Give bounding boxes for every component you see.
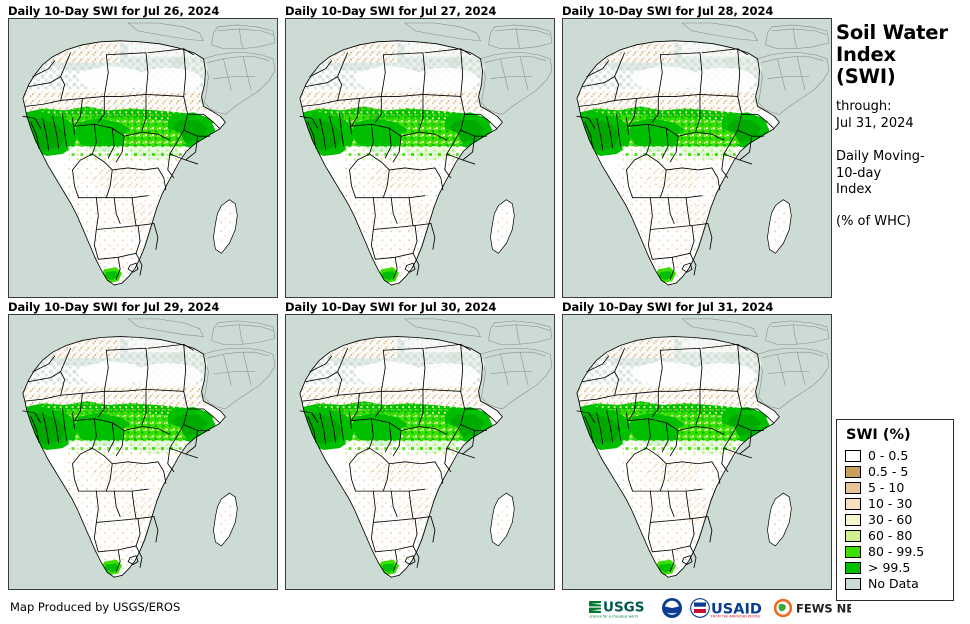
legend-label: 0.5 - 5 [868, 466, 908, 478]
units-label: (% of WHC) [836, 214, 968, 231]
svg-text:FEWS NET: FEWS NET [796, 602, 851, 616]
legend-swatch [845, 578, 861, 590]
legend-label: 5 - 10 [868, 482, 904, 494]
legend-label: 0 - 0.5 [868, 450, 908, 462]
map-canvas[interactable] [562, 314, 832, 590]
legend-item: No Data [845, 576, 945, 592]
legend-swatch [845, 546, 861, 558]
svg-text:FROM THE AMERICAN PEOPLE: FROM THE AMERICAN PEOPLE [711, 615, 760, 619]
map-canvas[interactable] [285, 18, 555, 298]
legend-item: 60 - 80 [845, 528, 945, 544]
noaa-logo [661, 596, 683, 620]
panel-title: Daily 10-Day SWI for Jul 27, 2024 [285, 4, 555, 18]
legend-label: > 99.5 [868, 562, 910, 574]
legend-item: 0.5 - 5 [845, 464, 945, 480]
description-line-3: Index [836, 182, 968, 199]
fews-net-logo: FEWS NET [773, 596, 851, 620]
panel-title: Daily 10-Day SWI for Jul 26, 2024 [8, 4, 278, 18]
usaid-logo: USAID FROM THE AMERICAN PEOPLE [690, 596, 766, 620]
legend-item: 10 - 30 [845, 496, 945, 512]
agency-logos: USGS science for a changing world USAID … [588, 595, 851, 621]
legend-item: 30 - 60 [845, 512, 945, 528]
legend-swatch [845, 450, 861, 462]
legend-label: No Data [868, 578, 919, 590]
legend-label: 60 - 80 [868, 530, 912, 542]
map-canvas[interactable] [562, 18, 832, 298]
svg-text:USGS: USGS [603, 600, 645, 616]
map-panel-1: Daily 10-Day SWI for Jul 26, 2024 [8, 4, 278, 18]
description-line-1: Daily Moving- [836, 149, 968, 166]
map-panel-5: Daily 10-Day SWI for Jul 30, 2024 [285, 300, 555, 314]
legend-swatch [845, 498, 861, 510]
map-credit: Map Produced by USGS/EROS [10, 600, 180, 614]
legend-item: > 99.5 [845, 560, 945, 576]
title-line-3: (SWI) [836, 66, 968, 88]
legend-swatch [845, 514, 861, 526]
map-panel-6: Daily 10-Day SWI for Jul 31, 2024 [562, 300, 832, 314]
legend-title: SWI (%) [846, 427, 945, 443]
title-line-1: Soil Water [836, 22, 968, 44]
legend-swatch [845, 466, 861, 478]
panel-title: Daily 10-Day SWI for Jul 30, 2024 [285, 300, 555, 314]
legend: SWI (%) 0 - 0.5 0.5 - 5 5 - 10 10 - 30 3… [836, 419, 954, 601]
legend-swatch [845, 530, 861, 542]
svg-text:science for a changing world: science for a changing world [589, 615, 638, 619]
through-date: Jul 31, 2024 [836, 116, 968, 133]
legend-item: 5 - 10 [845, 480, 945, 496]
legend-label: 30 - 60 [868, 514, 912, 526]
description-line-2: 10-day [836, 166, 968, 183]
map-panel-2: Daily 10-Day SWI for Jul 27, 2024 [285, 4, 555, 18]
panel-title: Daily 10-Day SWI for Jul 31, 2024 [562, 300, 832, 314]
panel-title: Daily 10-Day SWI for Jul 29, 2024 [8, 300, 278, 314]
legend-swatch [845, 482, 861, 494]
map-canvas[interactable] [8, 18, 278, 298]
legend-label: 80 - 99.5 [868, 546, 924, 558]
through-label: through: [836, 99, 968, 116]
map-panel-4: Daily 10-Day SWI for Jul 29, 2024 [8, 300, 278, 314]
legend-swatch [845, 562, 861, 574]
legend-label: 10 - 30 [868, 498, 912, 510]
map-canvas[interactable] [285, 314, 555, 590]
legend-item: 80 - 99.5 [845, 544, 945, 560]
map-canvas[interactable] [8, 314, 278, 590]
title-line-2: Index [836, 44, 968, 66]
map-panel-3: Daily 10-Day SWI for Jul 28, 2024 [562, 4, 832, 18]
panel-title: Daily 10-Day SWI for Jul 28, 2024 [562, 4, 832, 18]
title-block: Soil Water Index (SWI) through: Jul 31, … [836, 22, 968, 230]
legend-item: 0 - 0.5 [845, 448, 945, 464]
usgs-logo: USGS science for a changing world [588, 596, 654, 620]
